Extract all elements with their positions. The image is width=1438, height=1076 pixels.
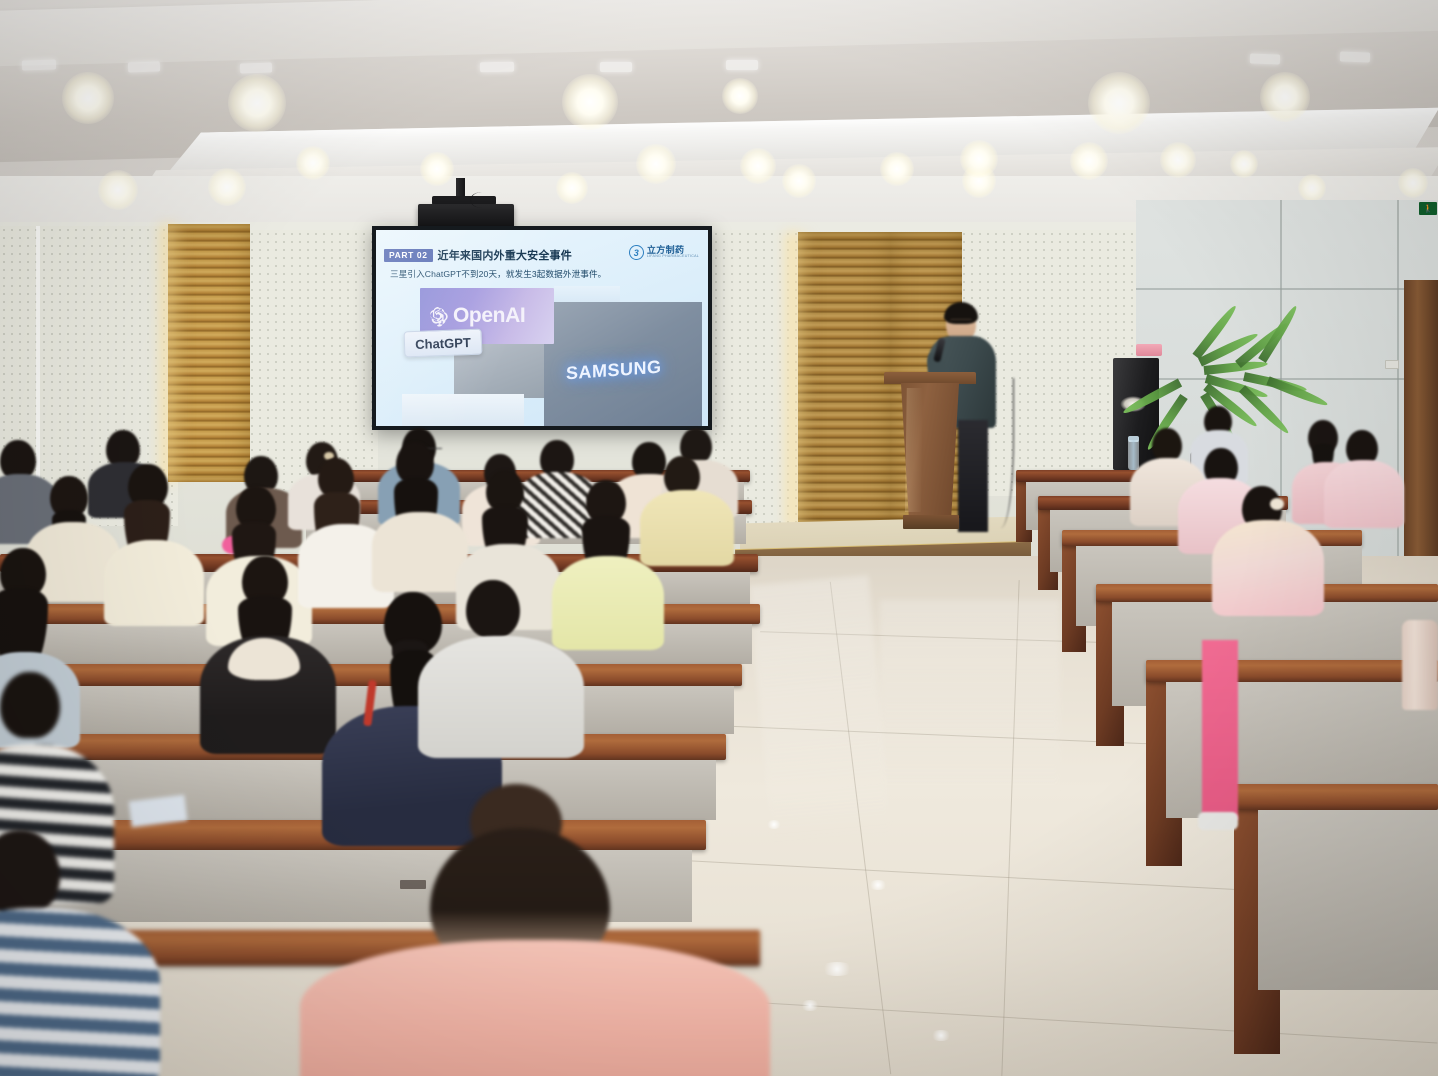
light-fixture	[1250, 53, 1280, 64]
wood-slat-panel-center	[798, 232, 892, 528]
light-fixture	[240, 62, 272, 73]
water-bottle	[1128, 440, 1139, 470]
logo-name-en: LIFANG PHARMACEUTICAL	[647, 255, 699, 259]
light-fixture	[22, 59, 56, 70]
openai-logo-icon	[427, 305, 449, 327]
attendee-body	[1212, 520, 1324, 616]
ceiling-downlight	[556, 172, 588, 204]
attendee-head	[0, 672, 60, 738]
attendee-body	[104, 540, 204, 626]
slide-title: 近年来国内外重大安全事件	[438, 247, 572, 263]
samsung-photo: SAMSUNG	[544, 302, 702, 426]
ceiling-downlight	[296, 146, 330, 180]
attendee-body	[1324, 460, 1404, 528]
podium-highlight	[905, 388, 923, 512]
ceiling-downlight	[722, 78, 758, 114]
light-fixture	[1340, 51, 1370, 62]
light-fixture	[480, 62, 514, 73]
podium-base	[903, 515, 959, 529]
ceiling-downlight	[1070, 142, 1108, 180]
projection-screen: PART 02 近年来国内外重大安全事件 三星引入ChatGPT不到20天，就发…	[372, 226, 712, 430]
slat-light-glow	[786, 232, 812, 528]
openai-wordmark: OpenAI	[453, 304, 525, 328]
floor-light-reflection	[930, 1030, 952, 1041]
floor-light-reflection	[820, 962, 854, 976]
floor-reflection	[880, 600, 1060, 800]
slide-subtitle: 三星引入ChatGPT不到20天，就发生3起数据外泄事件。	[390, 268, 606, 280]
slide-part-badge: PART 02	[384, 249, 433, 262]
presentation-slide: PART 02 近年来国内外重大安全事件 三星引入ChatGPT不到20天，就发…	[376, 230, 708, 426]
attendee-body	[640, 490, 734, 566]
ceiling-downlight	[228, 74, 286, 132]
right-wall-joint	[1136, 288, 1438, 290]
ceiling-downlight	[1398, 168, 1428, 198]
floor-reflection	[749, 575, 891, 844]
hair-clip	[1270, 498, 1284, 510]
slide-header: PART 02 近年来国内外重大安全事件	[384, 247, 572, 263]
ceiling-downlight	[740, 148, 776, 184]
attendee-body	[552, 556, 664, 650]
photo-fragment-bottom	[402, 394, 524, 426]
ceiling-downlight	[960, 140, 998, 178]
attendee-shoe	[1198, 812, 1238, 830]
presenter-legs	[958, 420, 988, 532]
power-outlet	[1385, 360, 1399, 369]
exit-sign: 🚶	[1419, 202, 1437, 215]
logo-mark-icon: 3	[629, 245, 644, 260]
bench-row	[1146, 660, 1438, 682]
ceiling-downlight	[880, 152, 914, 186]
podium-top	[884, 372, 976, 384]
presenter-glasses-icon	[950, 319, 972, 323]
desk-hardware	[400, 880, 426, 889]
ceiling-downlight	[1298, 174, 1326, 202]
ceiling-downlight	[208, 168, 246, 206]
slat-light-glow	[160, 224, 186, 482]
right-wall-joint	[1136, 378, 1438, 380]
attendee-head	[466, 580, 520, 638]
light-fixture	[726, 60, 758, 70]
ceiling-downlight	[420, 152, 454, 186]
thermos-cup	[1402, 620, 1438, 710]
ceiling-downlight	[1260, 72, 1310, 122]
ceiling-downlight	[1160, 142, 1196, 178]
ceiling-downlight	[782, 164, 816, 198]
slide-photo-collage: SAMSUNG OpenAI ChatGPT	[402, 286, 702, 426]
ceiling-downlight	[562, 74, 618, 130]
projector-cable	[470, 192, 494, 208]
ceiling-downlight	[636, 144, 676, 184]
ceiling-downlight	[62, 72, 114, 124]
bench-row	[1234, 784, 1438, 810]
floor-light-reflection	[766, 820, 782, 829]
floor-light-reflection	[868, 880, 888, 890]
ceiling-downlight	[1230, 150, 1258, 178]
floor-light-reflection	[800, 1000, 820, 1011]
attendee-body	[418, 636, 584, 758]
ceiling-downlight	[98, 170, 138, 210]
exit-icon: 🚶	[1423, 205, 1433, 213]
company-logo: 3 立方制药 LIFANG PHARMACEUTICAL	[629, 245, 699, 260]
logo-text-block: 立方制药 LIFANG PHARMACEUTICAL	[647, 246, 699, 259]
samsung-wordmark: SAMSUNG	[566, 357, 662, 385]
attendee-body	[300, 940, 770, 1076]
ceiling-downlight	[1088, 72, 1150, 134]
auditorium-scene: 🚶 PART 02 近年来国内外重大安全事件 三星引入ChatGPT不到20天，…	[0, 0, 1438, 1076]
pink-item-on-speaker	[1136, 344, 1162, 356]
chatgpt-label: ChatGPT	[404, 329, 483, 358]
attendee-leg	[1202, 640, 1238, 820]
attendee-head	[1152, 428, 1182, 462]
light-fixture	[600, 62, 632, 72]
light-fixture	[128, 61, 160, 72]
bench-modesty-panel	[1258, 810, 1438, 990]
attendee-body	[372, 512, 468, 592]
